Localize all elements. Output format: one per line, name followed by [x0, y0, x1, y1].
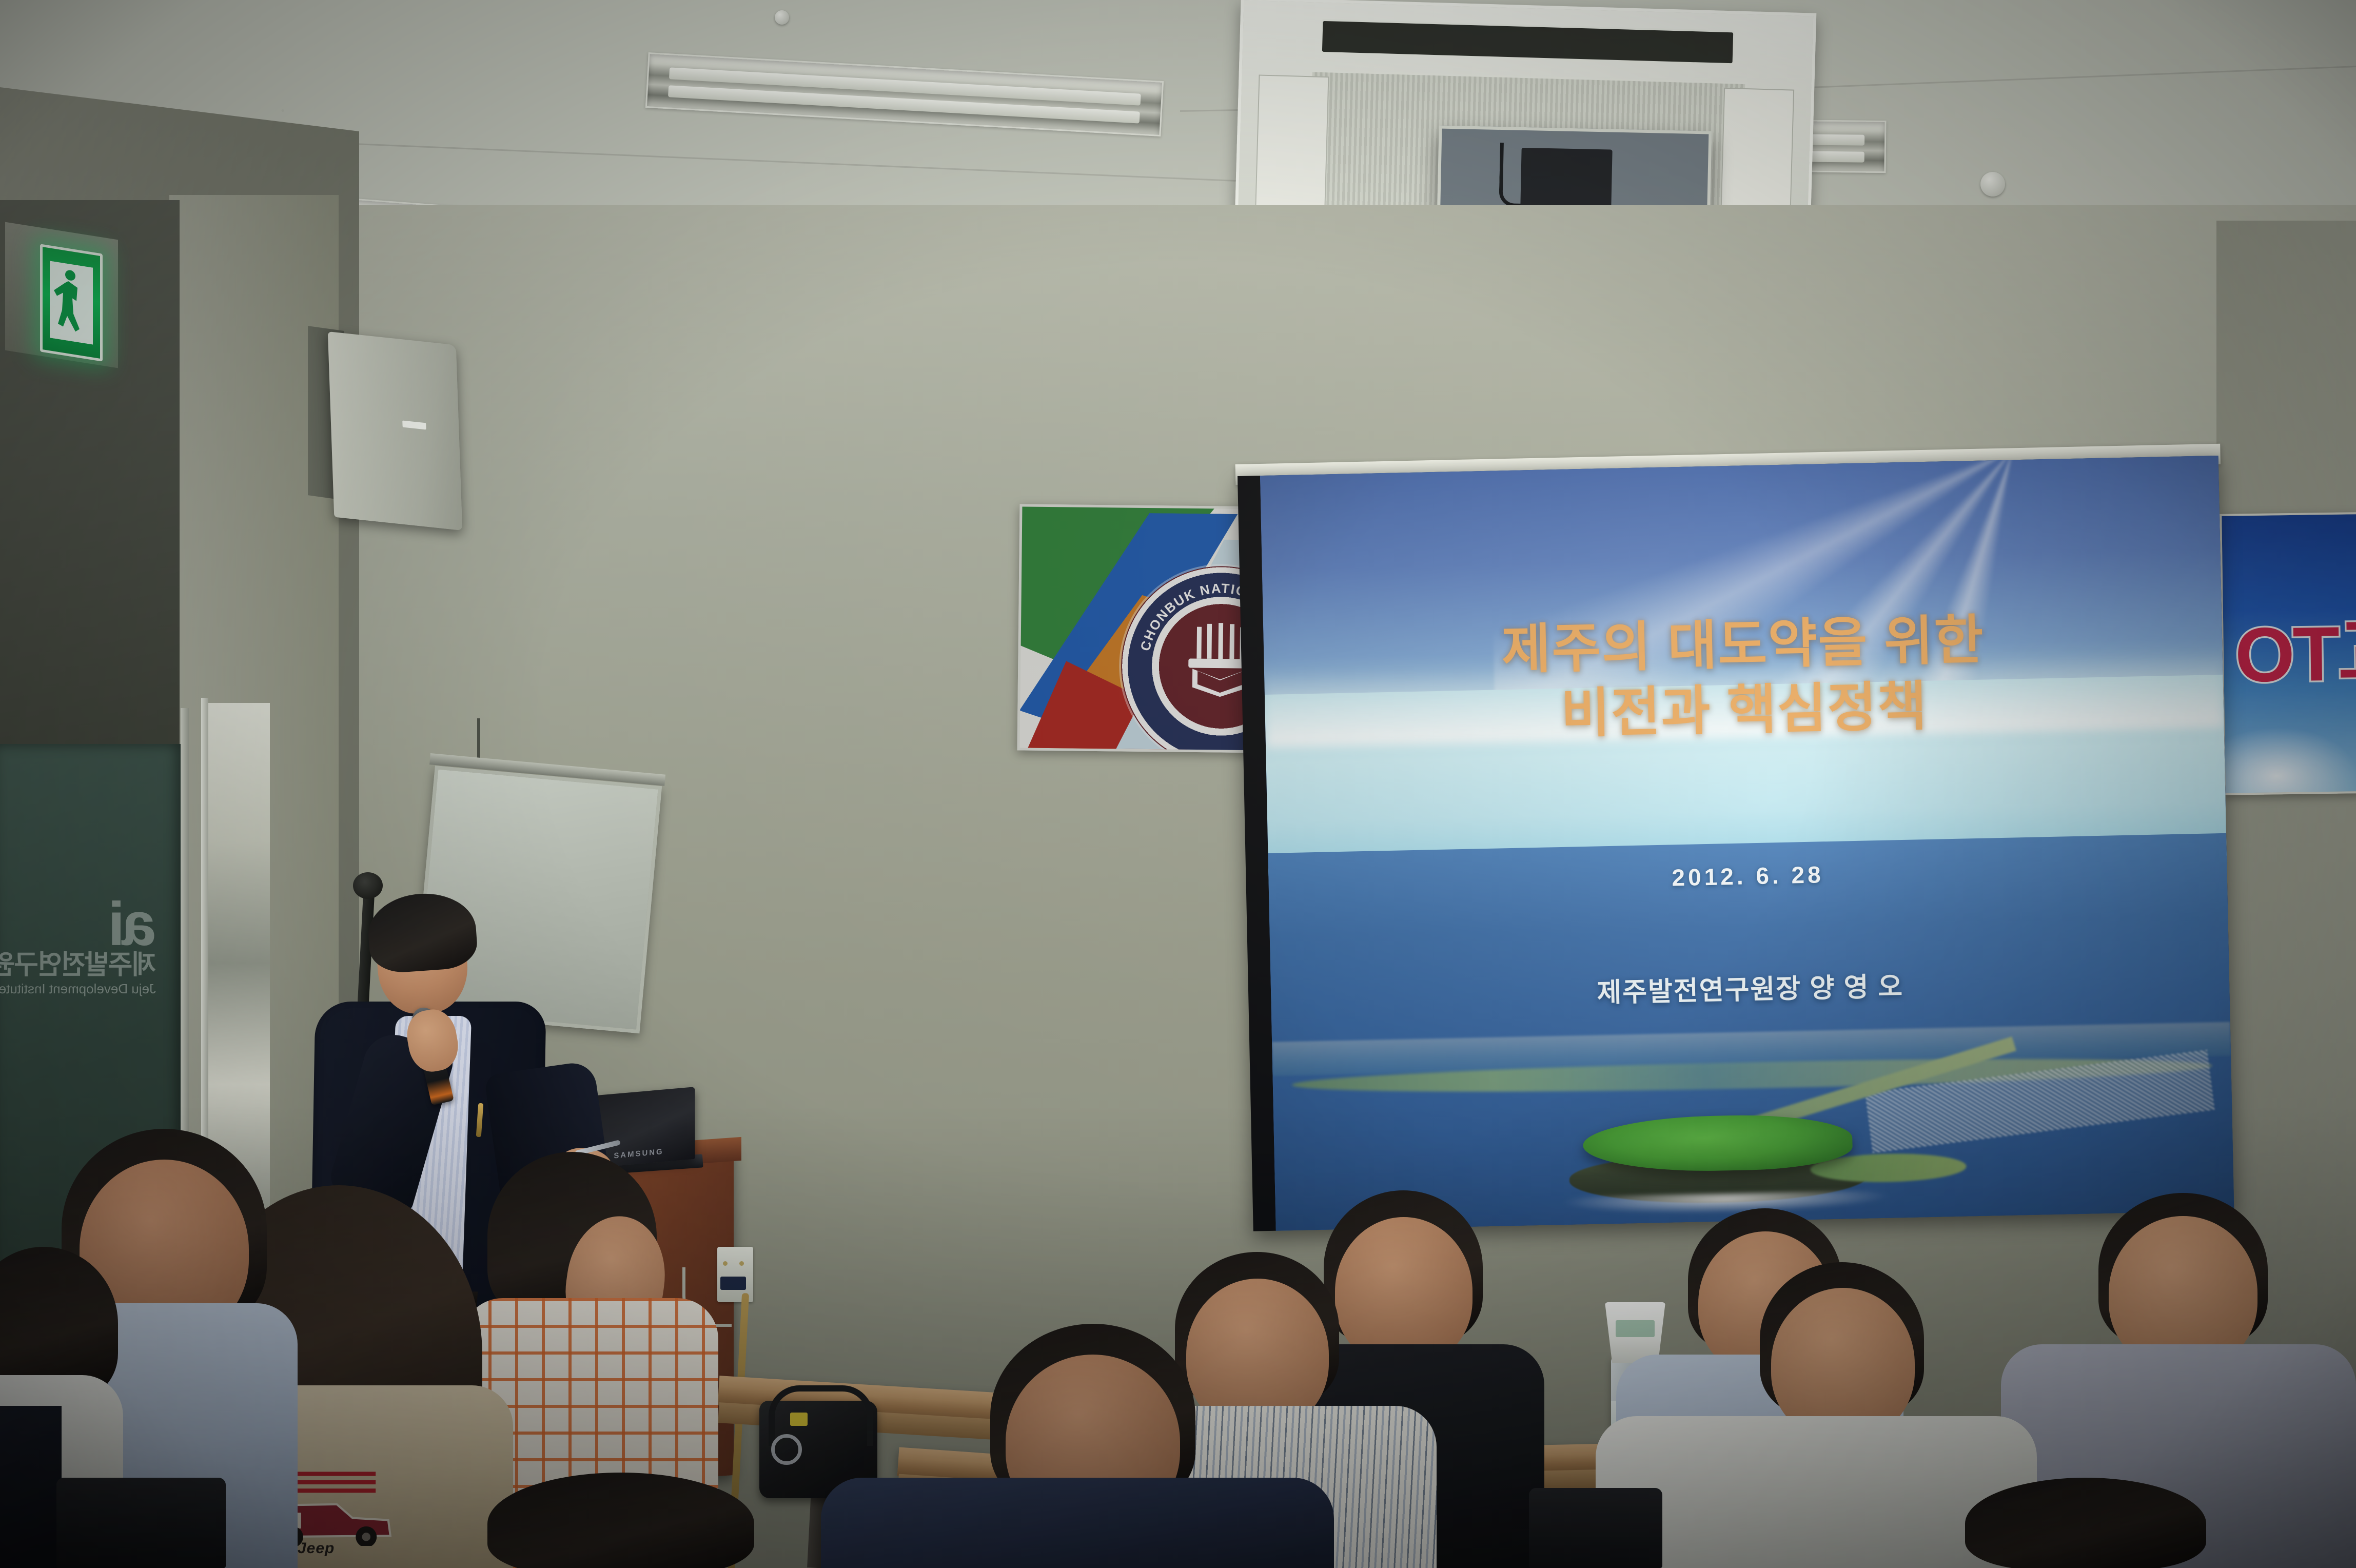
microphone-stand-head: [353, 872, 383, 899]
attendee-dark-jacket: [0, 1406, 62, 1568]
paper-cup[interactable]: [1605, 1302, 1665, 1363]
chair: [1529, 1488, 1662, 1568]
attendee-head: [1335, 1217, 1472, 1366]
logo-mark: ai: [0, 898, 156, 950]
chonbuk-national-university-banner: CHONBUK NATIONAL U: [1017, 504, 1277, 753]
chair: [56, 1478, 226, 1568]
power-plug: [720, 1277, 746, 1290]
projection-screen: 제주의 대도약을 위한 비전과 핵심정책 2012. 6. 28 제주발전연구원…: [1238, 456, 2234, 1231]
attendee-hair: [487, 1473, 754, 1568]
seongsan-ilchulbong: [1561, 1111, 1918, 1213]
speaker-badge: [402, 421, 426, 430]
banner-text: OT교: [2234, 591, 2356, 704]
jeju-development-institute-logo: ai 제주발전연구원 Jeju Development Institute: [0, 898, 156, 997]
attendee-hair: [1965, 1478, 2206, 1568]
lecture-hall-photo: ai 제주발전연구원 Jeju Development Institute: [0, 0, 2356, 1568]
jeep-brand-label: Jeep: [298, 1540, 335, 1557]
logo-english-text: Jeju Development Institute: [0, 981, 156, 997]
presentation-slide: 제주의 대도약을 위한 비전과 핵심정책 2012. 6. 28 제주발전연구원…: [1260, 456, 2234, 1231]
whiteboard-hanger: [477, 718, 480, 759]
logo-korean-text: 제주발전연구원: [0, 950, 156, 981]
banner-cloud: [2220, 719, 2356, 795]
slide-title: 제주의 대도약을 위한 비전과 핵심정책: [1263, 603, 2224, 753]
wall-speaker: [328, 331, 462, 531]
running-person-icon: [50, 261, 93, 344]
bag-clasp: [771, 1434, 802, 1465]
outlet-screw: [739, 1261, 744, 1266]
smoke-detector: [1980, 172, 2005, 197]
ac-air-slot: [1322, 21, 1733, 63]
sprinkler-head: [775, 10, 789, 25]
attendee-navy-blazer: [821, 1478, 1334, 1568]
emergency-exit-sign: [40, 244, 103, 361]
orientation-banner: OT교: [2220, 512, 2356, 795]
bag-tag: [790, 1413, 808, 1426]
outlet-screw: [723, 1261, 728, 1266]
cup-print: [1616, 1320, 1655, 1337]
laptop-brand-label: SAMSUNG: [614, 1147, 663, 1161]
